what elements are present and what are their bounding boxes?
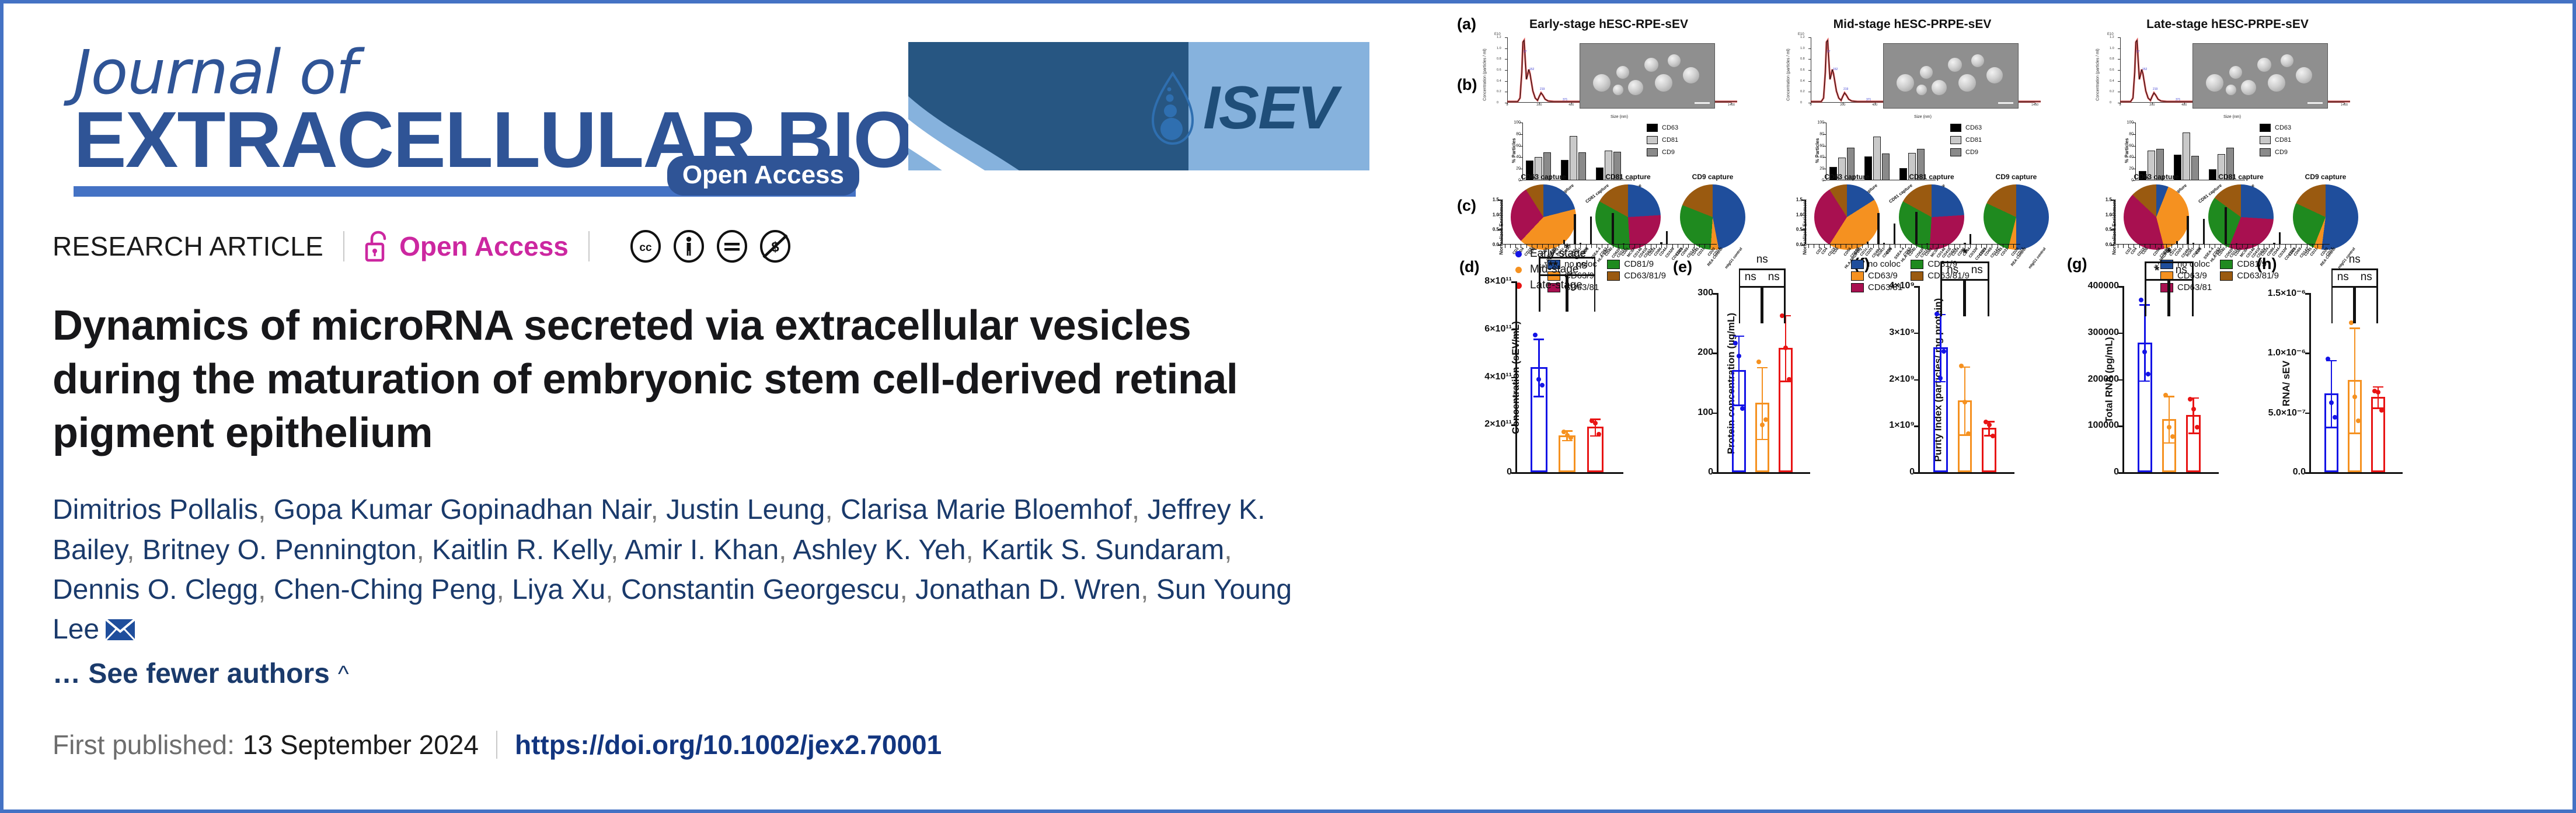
enrich-xtickmark <box>1819 245 1819 248</box>
open-access-label: Open Access <box>399 231 569 262</box>
quant-errorbar-cap-bottom <box>1533 396 1544 397</box>
legend-item: CD9 <box>1950 148 1982 156</box>
bar-ytickmark <box>2132 157 2135 158</box>
nta-ytick: 0.2 <box>1800 90 1805 93</box>
nta-ytick: 0.6 <box>1800 68 1805 72</box>
bracket-bar <box>2331 268 2378 270</box>
bracket-bar <box>2145 261 2193 263</box>
meta-divider-2 <box>588 231 590 261</box>
bar-ytickmark <box>2132 134 2135 135</box>
bracket-right-tick <box>1784 286 1786 323</box>
nta-ytick: 0.4 <box>2110 79 2114 83</box>
enrich-xtickmark <box>2312 245 2313 248</box>
quant-ytick: 1.5×10⁻⁶ <box>2268 287 2306 299</box>
article-preview-page: Journal of EXTRACELLULAR BIOLOGY Open Ac… <box>0 0 2576 813</box>
nta-ytick: 0 <box>1497 101 1498 104</box>
ev-particle <box>2296 67 2312 83</box>
pie-legend-label: CD63/81/9 <box>2237 271 2279 281</box>
significance-label: ns <box>2361 271 2372 284</box>
enrich-xtickmark <box>2279 245 2280 248</box>
enrich-xtickmark <box>1704 245 1705 248</box>
enrich-ytickmark <box>1498 229 1501 231</box>
ev-particle <box>1628 80 1643 95</box>
enrich-bar-cd81 <box>2225 207 2226 245</box>
bar-ylabel: % Particles <box>2124 138 2129 163</box>
bracket-right-tick <box>2376 286 2378 323</box>
author-name[interactable]: Jonathan D. Wren <box>915 574 1141 605</box>
ev-particle <box>2268 74 2285 92</box>
nta-ytick: 1.2 <box>2110 36 2114 39</box>
quant-data-point <box>2146 372 2150 376</box>
nta-peak-label: 371 <box>1563 98 1567 102</box>
quant-ytickmark <box>1713 413 1717 414</box>
early-stage-dot-icon <box>1515 251 1522 257</box>
enrich-xtickmark <box>1981 245 1982 248</box>
ev-particle <box>1655 74 1672 92</box>
quant-panel-g-total-rna: Total RNA (pg/mL)01000002000003000004000… <box>2122 286 2219 474</box>
quant-errorbar <box>2169 396 2170 442</box>
author-name[interactable]: Amir I. Khan <box>625 535 779 566</box>
pie-title: CD9 capture <box>1673 173 1752 181</box>
journal-logo: Journal of EXTRACELLULAR BIOLOGY Open Ac… <box>74 42 879 197</box>
enrich-xtickmark <box>1613 245 1613 248</box>
cc-nc-icon[interactable]: $ <box>759 230 792 263</box>
enrich-x-axis <box>2114 244 2330 245</box>
quant-errorbar <box>1738 336 1740 405</box>
enrich-xtickmark <box>2145 245 2145 248</box>
ev-particle <box>1683 67 1699 83</box>
author-name[interactable]: Dennis O. Clegg <box>53 574 258 605</box>
nta-xlabel: Size (nm) <box>1811 115 2035 119</box>
enrich-ytickmark <box>1498 245 1501 246</box>
see-fewer-authors-button[interactable]: … See fewer authors ^ <box>53 654 349 694</box>
nta-ytick: 0.4 <box>1800 79 1805 83</box>
quant-data-point <box>1533 333 1538 337</box>
nta-peak-label: 371 <box>1866 98 1871 102</box>
quant-x-axis <box>1515 472 1623 474</box>
significance-label: * <box>2155 264 2159 278</box>
quant-ytick: 0.0 <box>2293 467 2306 477</box>
enrich-xtickmark <box>1954 245 1955 248</box>
enrich-xtickmark <box>1597 245 1597 248</box>
ev-particle <box>1920 66 1933 79</box>
tem-micrograph-0 <box>1580 43 1715 109</box>
ev-particle <box>1916 85 1927 95</box>
enrich-ytickmark <box>1801 229 1805 231</box>
tetraspanin-legend-0: CD63CD81CD9 <box>1647 124 1678 160</box>
nta-ylabel: Concentration (particles / ml) <box>1483 48 1487 100</box>
legend-swatch <box>1647 136 1658 144</box>
quant-y-axis <box>2122 286 2124 474</box>
enrich-ytickmark <box>1801 215 1805 216</box>
nta-peak-label: 219 <box>2153 88 2157 91</box>
enrichment-chart-2: Normalized Enrichment0.00.51.01.5CD3CD4C… <box>2099 200 2330 261</box>
nta-xtickmark <box>1539 103 1540 104</box>
enrich-xtickmark <box>1824 245 1825 248</box>
journal-masthead: Journal of EXTRACELLULAR BIOLOGY Open Ac… <box>50 30 1404 188</box>
bracket-bar <box>2355 286 2378 288</box>
enrich-xtickmark <box>1510 245 1511 248</box>
tetraspanin-legend-1: CD63CD81CD9 <box>1950 124 1982 160</box>
author-name[interactable]: Clarisa Marie Bloemhof <box>841 494 1132 525</box>
quant-ytickmark <box>1511 424 1515 426</box>
enrich-ytickmark <box>2111 245 2114 246</box>
nta-ytick: 0.2 <box>2110 90 2114 93</box>
enrich-x-axis <box>1501 244 1717 245</box>
significance-label: * <box>1962 246 1967 260</box>
legend-label: CD63 <box>2275 124 2291 131</box>
bar-ylabel: % Particles <box>1815 138 1820 163</box>
author-name[interactable]: Constantin Georgescu <box>621 574 900 605</box>
ev-particle <box>1616 66 1629 79</box>
quant-errorbar-cap-bottom <box>1562 440 1573 442</box>
enrich-category-label: mIgG1 control <box>1724 247 1744 270</box>
author-name[interactable]: Liya Xu <box>512 574 605 605</box>
significance-bracket <box>1940 279 1965 316</box>
quant-ytick: 400000 <box>2088 281 2119 291</box>
enrich-xtickmark <box>1911 245 1912 248</box>
legend-swatch <box>1950 148 1961 156</box>
enrich-xtickmark <box>1878 245 1879 248</box>
quant-data-point <box>2191 407 2196 411</box>
quant-ytickmark <box>2305 293 2309 295</box>
tem-scalebar <box>2307 102 2323 104</box>
enrich-xtickmark <box>1651 245 1651 248</box>
quant-ytickmark <box>1713 472 1717 474</box>
nta-peak-label: 219 <box>1540 88 1545 91</box>
isev-swoosh-graphic <box>908 42 1188 170</box>
bracket-left-tick <box>2169 279 2171 316</box>
legend-label: CD63 <box>1965 124 1982 131</box>
quant-ytickmark <box>1511 472 1515 474</box>
enrich-xtickmark <box>1814 245 1814 248</box>
quant-data-point <box>2376 390 2380 395</box>
enrich-xtickmark <box>2008 245 2009 248</box>
nta-ytick: 0 <box>1800 101 1802 104</box>
bar-ytickmark <box>1823 157 1826 158</box>
enrich-xtickmark <box>1862 245 1863 248</box>
enrich-bar-cd81 <box>1612 213 1613 245</box>
enrich-xtickmark <box>2209 245 2210 248</box>
legend-item: CD63 <box>1647 124 1678 132</box>
quant-ytick: 1.0×10⁻⁶ <box>2268 347 2306 358</box>
quant-errorbar <box>1762 367 1763 439</box>
enrich-xtickmark <box>1694 245 1695 248</box>
article-title: Dynamics of microRNA secreted via extrac… <box>53 299 1325 460</box>
enrich-xtickmark <box>1868 245 1869 248</box>
open-lock-icon <box>364 230 390 263</box>
enrich-xtickmark <box>2139 245 2140 248</box>
ev-particle <box>1668 54 1681 67</box>
enrich-ytickmark <box>1801 245 1805 246</box>
bar-y-axis <box>1826 123 1826 180</box>
enrich-xtickmark <box>1602 245 1602 248</box>
enrich-bar-cd9 <box>2187 216 2188 245</box>
bracket-left-tick <box>1567 274 1569 312</box>
quant-x-axis <box>1918 472 2014 474</box>
doi-link[interactable]: https://doi.org/10.1002/jex2.70001 <box>515 729 942 760</box>
quant-ytick: 200 <box>1697 347 1713 358</box>
pie-legend-swatch <box>1607 271 1620 281</box>
nta-xtickmark <box>1507 103 1508 104</box>
enrich-ytickmark <box>1801 200 1805 201</box>
legend-item: CD9 <box>1647 148 1678 156</box>
bar-y-axis <box>1522 123 1523 180</box>
open-access-badge: Open Access <box>667 156 859 196</box>
nta-xtickmark <box>2344 103 2345 104</box>
quant-x-axis <box>2122 472 2219 474</box>
enrich-category-label: CD9 <box>1885 247 1894 256</box>
significance-bracket <box>2355 286 2378 323</box>
quant-y-axis <box>1717 293 1719 474</box>
bracket-right-tick <box>1594 274 1596 312</box>
quant-data-point <box>1966 431 1971 436</box>
enrich-xtickmark <box>2188 245 2188 248</box>
ev-particle <box>2281 54 2293 67</box>
enrich-xtickmark <box>2291 245 2291 248</box>
quant-errorbar-cap-bottom <box>2326 427 2337 428</box>
enrich-xtickmark <box>1948 245 1949 248</box>
quant-data-point <box>2167 425 2171 430</box>
legend-swatch <box>1950 124 1961 132</box>
enrich-xtickmark <box>1895 245 1895 248</box>
figure-column-title-mid: Mid-stage hESC-PRPE-sEV <box>1790 18 2035 32</box>
quant-ylabel: RNA/ sEV <box>2281 361 2292 406</box>
nta-peak-label: 371 <box>2176 98 2180 102</box>
enrich-xtickmark <box>1841 245 1841 248</box>
enrich-xtickmark <box>1672 245 1673 248</box>
bracket-left-tick <box>1762 286 1764 323</box>
enrich-category-label: mIgG1 control <box>2028 247 2047 270</box>
panel-label-c: (c) <box>1457 197 1476 215</box>
quant-errorbar-cap-top <box>2373 386 2383 388</box>
quant-data-point <box>1987 423 1992 427</box>
nta-xtickmark <box>1875 103 1876 104</box>
quant-data-point <box>1756 360 1761 364</box>
article-card: Journal of EXTRACELLULAR BIOLOGY Open Ac… <box>4 4 1451 809</box>
quant-ytickmark <box>1511 329 1515 331</box>
pie-legend-swatch <box>1911 271 1923 281</box>
quant-panel-h-rna-per-sev: RNA/ sEV0.05.0×10⁻⁷1.0×10⁻⁶1.5×10⁻⁶nsnsn… <box>2309 293 2403 474</box>
nta-xtickmark <box>2184 103 2185 104</box>
ev-particle <box>1897 74 1914 92</box>
quant-data-point <box>1941 349 1946 354</box>
legend-label: CD9 <box>2275 149 2288 156</box>
publication-info-row: First published: 13 September 2024 https… <box>53 729 1404 760</box>
author-name[interactable]: Britney O. Pennington <box>142 535 417 566</box>
author-name[interactable]: Justin Leung <box>666 494 825 525</box>
nta-ylabel: Concentration (particles / ml) <box>1787 48 1791 100</box>
mid-stage-dot-icon <box>1515 267 1522 273</box>
author-name[interactable]: Kartik S. Sundaram <box>981 535 1224 566</box>
quant-ytickmark <box>2118 286 2122 288</box>
nta-xtickmark <box>1731 103 1732 104</box>
author-name[interactable]: Chen-Ching Peng <box>274 574 497 605</box>
nta-xlabel: Size (nm) <box>1507 115 1731 119</box>
tem-micrograph-2 <box>2192 43 2328 109</box>
pie-title: CD9 capture <box>2286 173 2365 181</box>
significance-label: ** <box>1548 259 1557 273</box>
enrich-bar-cd81 <box>1915 212 1917 245</box>
enrich-xtickmark <box>2215 245 2215 248</box>
quant-y-axis <box>1918 286 1920 474</box>
legend-item: CD63 <box>2260 124 2291 132</box>
enrich-xtickmark <box>1645 245 1646 248</box>
cc-by-icon[interactable] <box>672 230 705 263</box>
legend-item: CD81 <box>1647 136 1678 144</box>
significance-bracket <box>1739 286 1762 323</box>
significance-label: * <box>1565 242 1570 256</box>
author-list: Dimitrios Pollalis, Gopa Kumar Gopinadha… <box>53 490 1325 694</box>
enrich-xtickmark <box>1688 245 1689 248</box>
nta-peak-label: 97 <box>1827 50 1831 54</box>
legend-item: CD81 <box>2260 136 2291 144</box>
quant-data-point <box>2139 298 2143 302</box>
ev-particle <box>2241 80 2256 95</box>
enrich-bar-cd63 <box>2203 219 2205 245</box>
enrich-xtickmark <box>1986 245 1987 248</box>
panel-label-g: (g) <box>2067 255 2087 273</box>
pie-title: CD9 capture <box>1977 173 2056 181</box>
nta-xtickmark <box>1843 103 1843 104</box>
enrich-xtickmark <box>1608 245 1608 248</box>
enrich-xtickmark <box>1699 245 1700 248</box>
legend-item: CD81 <box>1950 136 1982 144</box>
cc-icon[interactable]: cc <box>629 230 662 263</box>
email-icon[interactable] <box>105 619 135 641</box>
quant-ytickmark <box>2118 425 2122 427</box>
enrich-bar-cd29 <box>1666 231 1668 245</box>
enrich-xtickmark <box>2317 245 2318 248</box>
quant-errorbar-cap-bottom <box>1935 381 1946 383</box>
enrich-bar-cd63 <box>1894 224 1895 245</box>
journal-name-line1: Journal of <box>74 42 879 103</box>
figure-panel: Early-stage hESC-RPE-sEV Mid-stage hESC-… <box>1451 7 2576 813</box>
quant-ytick: 300 <box>1697 288 1713 298</box>
significance-label: ns <box>2176 264 2187 277</box>
pie-legend-label: CD63/81/9 <box>1624 271 1666 281</box>
author-name[interactable]: Dimitrios Pollalis <box>53 494 258 525</box>
pie-title: CD81 capture <box>1892 173 1971 181</box>
pie-legend-item: CD63/81/9 <box>2220 271 2279 281</box>
enrich-xtickmark <box>1873 245 1874 248</box>
quant-data-point <box>2352 395 2357 399</box>
pie-legend-item: CD63/81/9 <box>1607 271 1666 281</box>
quant-errorbar-cap-bottom <box>2188 432 2199 434</box>
quant-ytick: 2×10⁹ <box>1889 374 1915 385</box>
enrich-xtickmark <box>1640 245 1640 248</box>
ev-particle <box>1644 58 1658 72</box>
enrich-xtickmark <box>1890 245 1890 248</box>
quant-panel-d-concentration: Concentration (sEV/mL)02×10¹¹4×10¹¹6×10¹… <box>1515 281 1623 474</box>
enrich-bar-cd63 <box>1590 217 1592 245</box>
significance-label: ns <box>2337 271 2349 284</box>
svg-text:cc: cc <box>639 242 652 254</box>
bar-ytickmark <box>2132 146 2135 146</box>
pie-legend-swatch <box>1851 271 1864 281</box>
panel-label-b: (b) <box>1457 76 1477 94</box>
quant-errorbar <box>1940 314 1941 381</box>
enrich-xtickmark <box>1976 245 1977 248</box>
nta-xlabel: Size (nm) <box>2120 115 2344 119</box>
quant-ytickmark <box>2305 353 2309 354</box>
bar-ytickmark <box>1519 146 1522 146</box>
ev-particle <box>1971 54 1984 67</box>
quant-data-point <box>1740 406 1745 411</box>
quant-errorbar <box>2192 397 2194 433</box>
quant-ytickmark <box>2118 379 2122 381</box>
nta-ytick: 0.4 <box>1497 79 1501 83</box>
quant-ytick: 300000 <box>2088 327 2119 338</box>
ev-particle <box>1593 74 1611 92</box>
enrich-xtickmark <box>1656 245 1657 248</box>
significance-bracket <box>1965 279 1989 316</box>
nta-xtickmark <box>1571 103 1572 104</box>
enrich-xtickmark <box>2128 245 2129 248</box>
enrich-xtickmark <box>1591 245 1592 248</box>
legend-swatch <box>2260 124 2271 132</box>
author-name[interactable]: Ashley K. Yeh <box>793 535 965 566</box>
quant-ytickmark <box>2305 472 2309 474</box>
significance-label: ns <box>2349 253 2361 266</box>
enrich-xtickmark <box>2150 245 2150 248</box>
author-name[interactable]: Gopa Kumar Gopinadhan Nair <box>274 494 651 525</box>
bar-ytickmark <box>1823 169 1826 169</box>
author-name[interactable]: Kaitlin R. Kelly <box>432 535 611 566</box>
quant-errorbar-cap-top <box>1757 367 1768 369</box>
ev-particle <box>1932 80 1947 95</box>
nta-xtickmark <box>2120 103 2121 104</box>
enrich-xtickmark <box>2323 245 2323 248</box>
enrich-xtickmark <box>1933 245 1933 248</box>
legend-swatch <box>2260 148 2271 156</box>
bar-ytickmark <box>2132 123 2135 123</box>
quant-data-point <box>1991 434 1995 438</box>
logo-rule: Open Access <box>74 186 856 197</box>
article-type-label: RESEARCH ARTICLE <box>53 231 323 262</box>
quant-ytick: 200000 <box>2088 374 2119 385</box>
pie-legend-label: CD63/9 <box>1868 271 1898 281</box>
nta-ylabel: Concentration (particles / ml) <box>2096 48 2100 100</box>
enrich-xtickmark <box>1998 245 1998 248</box>
pie-title: CD81 capture <box>2201 173 2281 181</box>
enrich-xtickmark <box>2253 245 2253 248</box>
quant-data-point <box>2379 408 2384 413</box>
quant-ytickmark <box>1713 293 1717 295</box>
bracket-bar <box>2169 279 2194 281</box>
quant-ytick: 6×10¹¹ <box>1484 324 1512 334</box>
nta-ytick: 0.8 <box>1800 57 1805 61</box>
nta-ytick: 1.2 <box>1497 36 1501 39</box>
ev-particle <box>2257 58 2271 72</box>
publication-divider <box>496 731 497 759</box>
quant-data-point <box>2333 415 2337 420</box>
first-published-date: 13 September 2024 <box>243 729 479 760</box>
quant-ytick: 3×10⁹ <box>1889 327 1915 338</box>
cc-nd-icon[interactable] <box>716 230 748 263</box>
ev-particle <box>1986 67 2003 83</box>
bracket-bar <box>1539 257 1595 259</box>
quant-y-axis <box>2309 293 2311 474</box>
first-published-label: First published: <box>53 729 235 760</box>
quant-x-axis <box>1717 472 1810 474</box>
quant-errorbar <box>2354 327 2356 432</box>
legend-label: CD81 <box>1965 137 1982 144</box>
nta-ytick: 0.8 <box>1497 57 1501 61</box>
see-fewer-authors-label: … See fewer authors <box>53 654 330 694</box>
quant-x-axis <box>2309 472 2403 474</box>
enrich-xtickmark <box>2269 245 2270 248</box>
